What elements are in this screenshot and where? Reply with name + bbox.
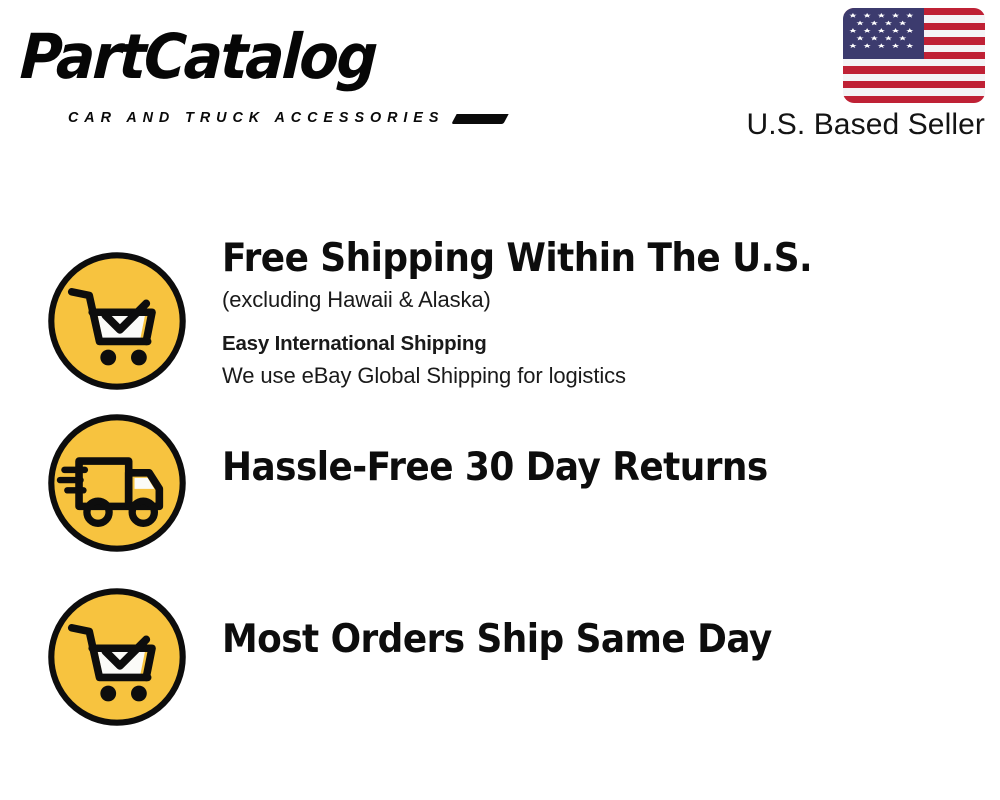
- shopping-cart-check-icon: [44, 584, 190, 730]
- shopping-cart-check-icon: [44, 248, 190, 394]
- feature-row-free-shipping: Free Shipping Within The U.S. (excluding…: [0, 228, 1000, 400]
- us-based-seller-badge: U.S. Based Seller: [710, 8, 985, 143]
- feature-heading: Most Orders Ship Same Day: [222, 617, 930, 663]
- shopping-cart-check-glyph: [44, 584, 190, 730]
- logo-wordmark: PartCatalog: [19, 22, 378, 92]
- page-header: PartCatalog CAR AND TRUCK ACCESSORIES: [0, 0, 1000, 170]
- logo-swoosh-accent: [451, 114, 508, 124]
- brand-logo[interactable]: PartCatalog CAR AND TRUCK ACCESSORIES: [22, 22, 492, 112]
- feature-text-free-shipping: Free Shipping Within The U.S. (excluding…: [222, 236, 992, 392]
- feature-text-same-day: Most Orders Ship Same Day: [222, 617, 992, 663]
- feature-list: Free Shipping Within The U.S. (excluding…: [0, 228, 1000, 744]
- logo-tagline: CAR AND TRUCK ACCESSORIES: [68, 110, 444, 126]
- feature-row-same-day-shipping: Most Orders Ship Same Day: [0, 572, 1000, 744]
- feature-heading: Free Shipping Within The U.S.: [222, 236, 930, 282]
- delivery-truck-icon: [44, 410, 190, 556]
- delivery-truck-glyph: [44, 410, 190, 556]
- feature-text-returns: Hassle-Free 30 Day Returns: [222, 445, 992, 491]
- feature-subnote: We use eBay Global Shipping for logistic…: [222, 360, 992, 392]
- feature-subheading: Easy International Shipping: [222, 328, 992, 360]
- shopping-cart-check-glyph: [44, 248, 190, 394]
- feature-row-returns: Hassle-Free 30 Day Returns: [0, 400, 1000, 572]
- us-flag-icon: [843, 8, 985, 103]
- feature-heading: Hassle-Free 30 Day Returns: [222, 445, 930, 491]
- flag-stars-icon: [843, 8, 924, 59]
- seller-badge-label: U.S. Based Seller: [710, 107, 985, 143]
- feature-note: (excluding Hawaii & Alaska): [222, 284, 992, 316]
